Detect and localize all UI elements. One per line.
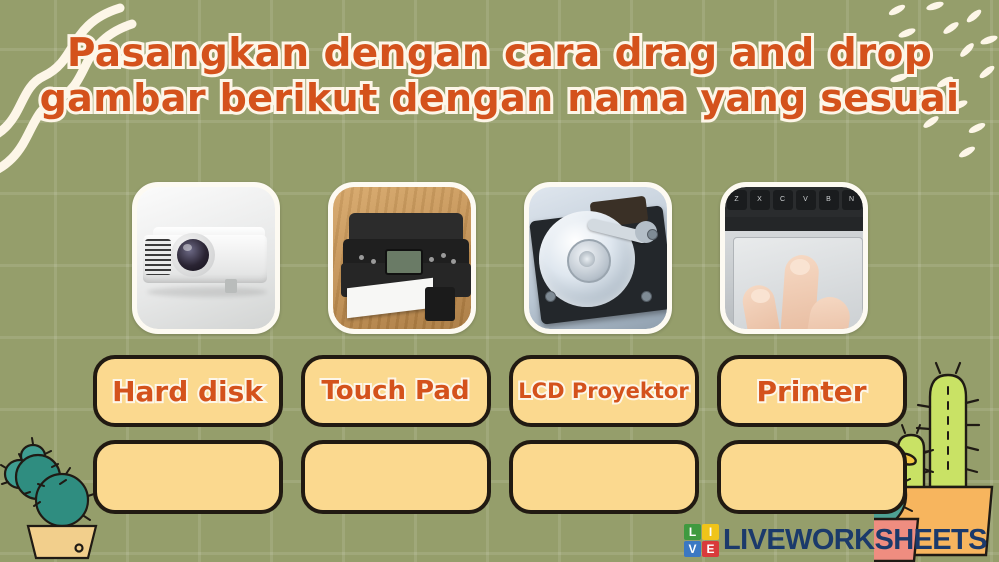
label-text: Hard disk <box>112 375 263 408</box>
keyboard-key-z: Z <box>727 190 747 210</box>
dropzone-2[interactable] <box>301 440 491 514</box>
draggable-label-printer[interactable]: Printer <box>717 355 907 427</box>
logo-tile-i: I <box>702 524 719 540</box>
label-text: Touch Pad <box>321 376 469 406</box>
keyboard-key-c: C <box>773 190 793 210</box>
draggable-label-hard-disk[interactable]: Hard disk <box>93 355 283 427</box>
title-line-2: gambar berikut dengan nama yang sesuai <box>0 79 999 119</box>
liveworksheets-wordmark: LIVEWORKSHEETS <box>723 524 987 557</box>
worksheet-canvas: Pasangkan dengan cara drag and drop gamb… <box>0 0 999 562</box>
dropzone-1[interactable] <box>93 440 283 514</box>
liveworksheets-watermark: L I V E LIVEWORKSHEETS <box>684 524 987 557</box>
dropzone-4[interactable] <box>717 440 907 514</box>
printer-photo <box>328 182 476 334</box>
keyboard-key-n: N <box>842 190 862 210</box>
label-text: LCD Proyektor <box>518 379 688 403</box>
dropzone-row <box>0 440 999 518</box>
dropzone-3[interactable] <box>509 440 699 514</box>
draggable-label-row: Hard disk Touch Pad LCD Proyektor Printe… <box>0 355 999 431</box>
logo-tile-l: L <box>684 524 701 540</box>
logo-tile-v: V <box>684 541 701 557</box>
title-line-1: Pasangkan dengan cara drag and drop <box>0 34 999 75</box>
liveworksheets-logo-icon: L I V E <box>684 524 719 557</box>
draggable-label-touch-pad[interactable]: Touch Pad <box>301 355 491 427</box>
label-text: Printer <box>756 375 866 408</box>
worksheet-title: Pasangkan dengan cara drag and drop gamb… <box>0 34 999 118</box>
keyboard-key-x: X <box>750 190 770 210</box>
lcd-projector-photo <box>132 182 280 334</box>
draggable-label-lcd-proyektor[interactable]: LCD Proyektor <box>509 355 699 427</box>
keyboard-key-b: B <box>819 190 839 210</box>
picture-row: Z X C V B N <box>0 182 999 342</box>
keyboard-key-v: V <box>796 190 816 210</box>
logo-tile-e: E <box>702 541 719 557</box>
touch-pad-photo: Z X C V B N <box>720 182 868 334</box>
hard-disk-photo <box>524 182 672 334</box>
